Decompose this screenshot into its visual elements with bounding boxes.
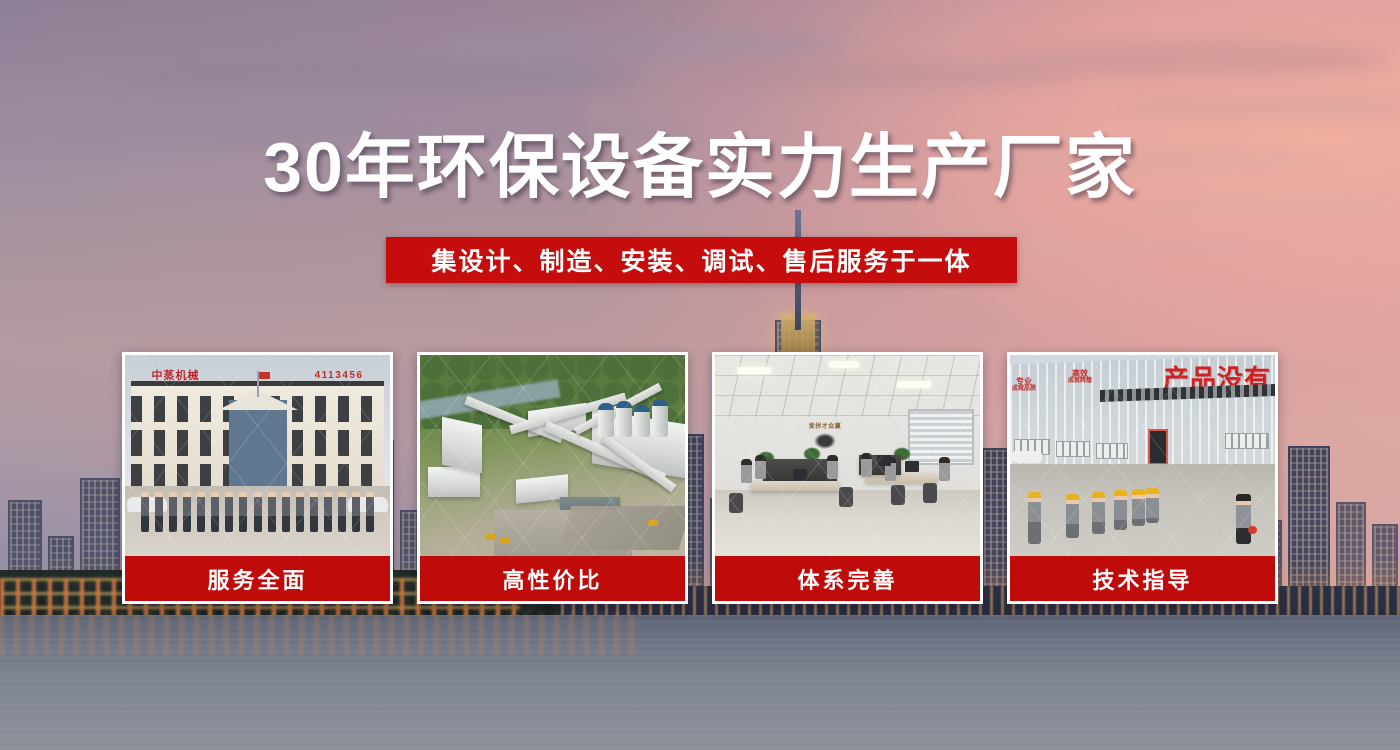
wall-slogan-2-bottom: 成就辉煌 [1068, 378, 1092, 385]
card-caption: 技术指导 [1010, 556, 1275, 601]
wall-slogan-1-bottom: 成就品质 [1012, 386, 1036, 393]
cloud [120, 58, 640, 96]
phone-number-sign: 4113456 [315, 370, 364, 381]
cloud [1120, 96, 1400, 118]
office-interior-photo: 爱拼才会赢 [715, 355, 980, 556]
feature-card-service[interactable]: 中蒸机械 4113456 服务全面 [122, 352, 393, 604]
feature-card-system[interactable]: 爱拼才会赢 [712, 352, 983, 604]
cloud [1000, 42, 1390, 76]
production-plant-aerial-photo [420, 355, 685, 556]
subtitle-banner: 集设计、制造、安装、调试、售后服务于一体 [386, 237, 1017, 283]
wall-slogan-2-top: 高效 [1068, 369, 1092, 378]
card-caption: 体系完善 [715, 556, 980, 601]
instructor [1236, 494, 1251, 544]
water-reflections [0, 613, 640, 655]
staff-lineup [141, 492, 374, 534]
feature-card-guidance[interactable]: 产品没有 专业 成就品质 高效 成就辉煌 [1007, 352, 1278, 604]
building-signage: 中蒸机械 4113456 [138, 367, 378, 383]
wall-slogan-1-top: 专业 [1012, 377, 1036, 386]
workers-training-photo: 产品没有 专业 成就品质 高效 成就辉煌 [1010, 355, 1275, 556]
cloud [430, 30, 850, 60]
card-caption: 高性价比 [420, 556, 685, 601]
page-title: 30年环保设备实力生产厂家 [0, 132, 1400, 202]
feature-card-value[interactable]: 高性价比 [417, 352, 688, 604]
card-caption: 服务全面 [125, 556, 390, 601]
feature-card-list: 中蒸机械 4113456 服务全面 [122, 352, 1278, 604]
wall-decal-text: 爱拼才会赢 [807, 421, 843, 430]
company-headquarters-photo: 中蒸机械 4113456 [125, 355, 390, 556]
company-name-sign: 中蒸机械 [152, 367, 200, 383]
factory-door [1148, 429, 1168, 465]
subtitle-text: 集设计、制造、安装、调试、售后服务于一体 [431, 242, 971, 278]
promo-banner: 30年环保设备实力生产厂家 集设计、制造、安装、调试、售后服务于一体 中蒸机械 … [0, 0, 1400, 750]
